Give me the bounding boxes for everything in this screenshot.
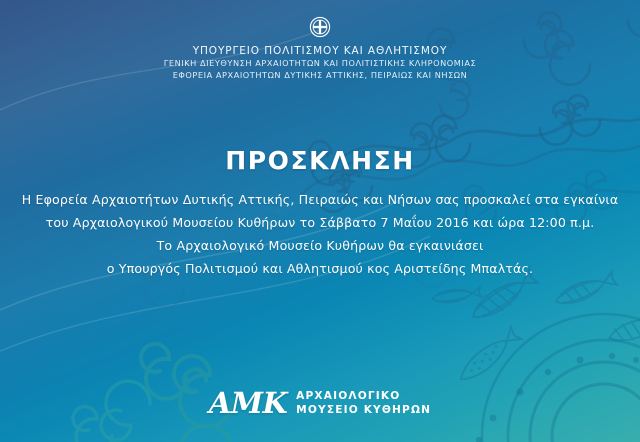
ephorate-name: ΕΦΟΡΕΙΑ ΑΡΧΑΙΟΤΗΤΩΝ ΔΥΤΙΚΗΣ ΑΤΤΙΚΗΣ, ΠΕΙ… <box>0 70 640 82</box>
emblem-container <box>0 16 640 40</box>
body-line-3: Το Αρχαιολογικό Μουσείο Κυθήρων θα εγκαι… <box>0 234 640 257</box>
body-line-4: ο Υπουργός Πολιτισμού και Αθλητισμού κος… <box>0 257 640 280</box>
invitation-body: Η Εφορεία Αρχαιοτήτων Δυτικής Αττικής, Π… <box>0 188 640 280</box>
invitation-title: ΠΡΟΣΚΛΗΣΗ <box>0 146 640 176</box>
museum-name-line-2: ΜΟΥΣΕΙΟ ΚΥΘΗΡΩΝ <box>296 403 431 417</box>
body-line-2: του Αρχαιολογικού Μουσείου Κυθήρων το Σά… <box>0 211 640 234</box>
invitation-card: ΥΠΟΥΡΓΕΙΟ ΠΟΛΙΤΙΣΜΟΥ ΚΑΙ ΑΘΛΗΤΙΣΜΟΥ ΓΕΝΙ… <box>0 0 640 442</box>
hellenic-republic-emblem-icon <box>309 16 331 38</box>
museum-logo: AMK ΑΡΧΑΙΟΛΟΓΙΚΟ ΜΟΥΣΕΙΟ ΚΥΘΗΡΩΝ <box>0 388 640 418</box>
ministry-name: ΥΠΟΥΡΓΕΙΟ ΠΟΛΙΤΙΣΜΟΥ ΚΑΙ ΑΘΛΗΤΙΣΜΟΥ <box>0 44 640 58</box>
amk-monogram: AMK <box>209 388 287 418</box>
body-line-1: Η Εφορεία Αρχαιοτήτων Δυτικής Αττικής, Π… <box>0 188 640 211</box>
museum-name: ΑΡΧΑΙΟΛΟΓΙΚΟ ΜΟΥΣΕΙΟ ΚΥΘΗΡΩΝ <box>296 389 431 417</box>
museum-name-line-1: ΑΡΧΑΙΟΛΟΓΙΚΟ <box>296 389 431 403</box>
directorate-name: ΓΕΝΙΚΗ ΔΙΕΥΘΥΝΣΗ ΑΡΧΑΙΟΤΗΤΩΝ ΚΑΙ ΠΟΛΙΤΙΣ… <box>0 58 640 70</box>
organization-header: ΥΠΟΥΡΓΕΙΟ ΠΟΛΙΤΙΣΜΟΥ ΚΑΙ ΑΘΛΗΤΙΣΜΟΥ ΓΕΝΙ… <box>0 16 640 81</box>
